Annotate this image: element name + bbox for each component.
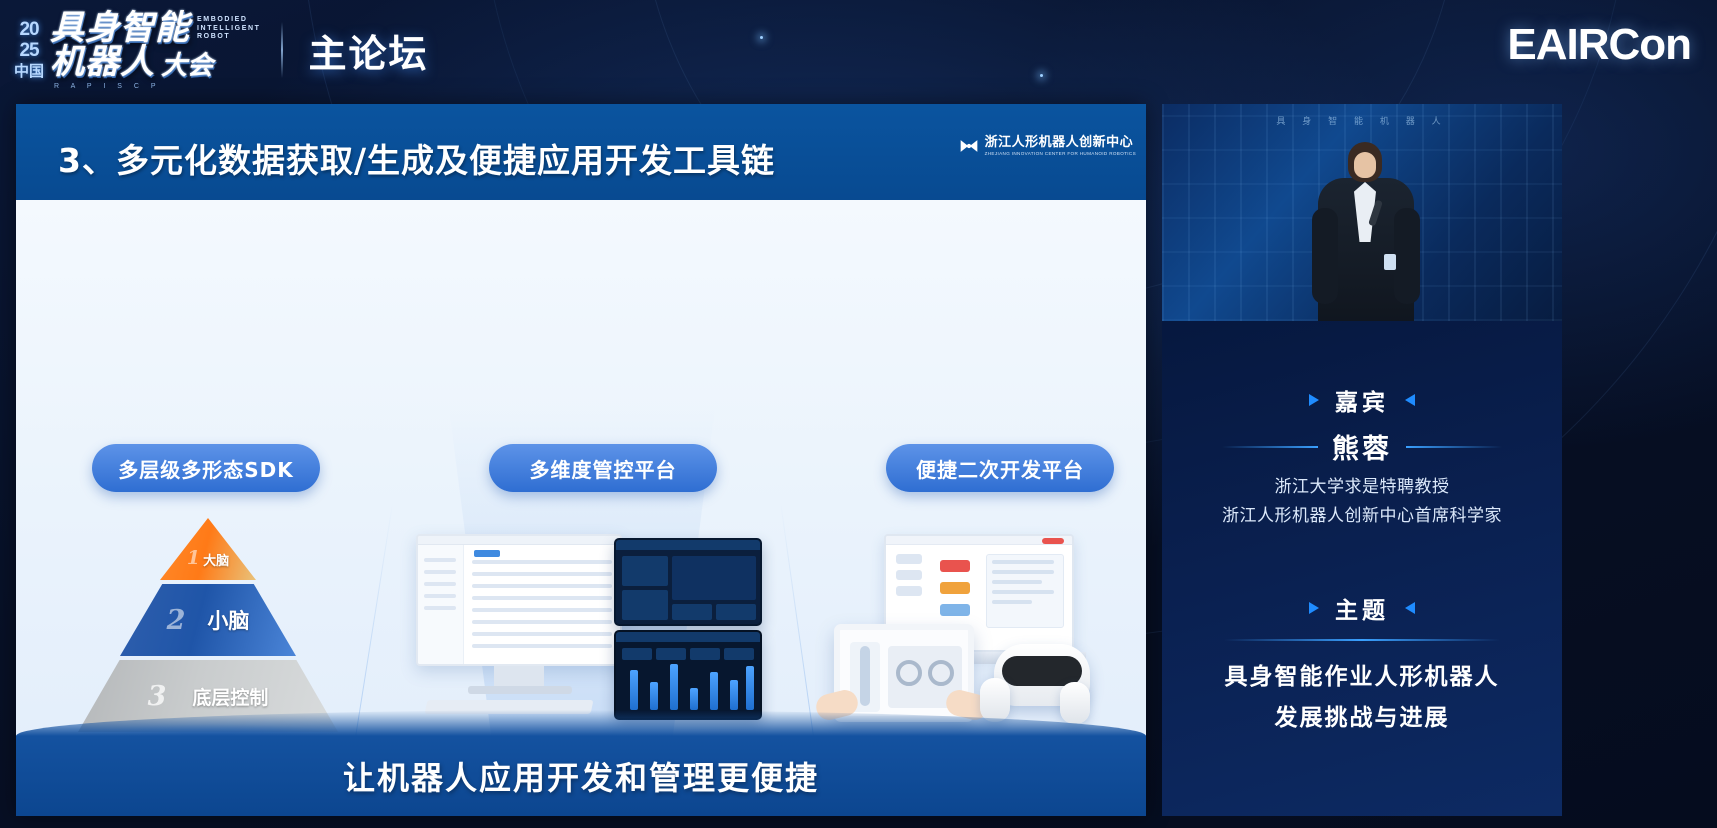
pyramid-diagram: 1 大脑 2 小脑 3 底层控制	[74, 518, 342, 740]
guest-affiliation-line-2: 浙江人形机器人创新中心首席科学家	[1162, 502, 1562, 531]
slide-title: 3、多元化数据获取/生成及便捷应用开发工具链	[58, 134, 775, 182]
conference-pinyin: R A P I S C P	[50, 83, 261, 90]
topic-title: 具身智能作业人形机器人 发展挑战与进展	[1162, 657, 1562, 739]
mock-bar	[710, 672, 718, 710]
mock-nav-item	[424, 606, 456, 610]
mock-row	[472, 620, 612, 624]
page-header: 20 25 中国 具身智能 EMBODIED INTELLIGENT ROBOT…	[0, 0, 1717, 100]
mock-bar	[670, 664, 678, 710]
mock-node-highlight	[940, 604, 970, 616]
conference-name-en: EMBODIED INTELLIGENT ROBOT	[197, 16, 261, 42]
name-rule-right	[1406, 446, 1502, 448]
conference-region: 中国	[14, 61, 44, 82]
mock-header-bar	[616, 632, 760, 642]
mock-row	[472, 560, 612, 564]
pyramid-layer-number: 1	[187, 547, 200, 569]
header-divider	[281, 22, 283, 78]
mock-bar	[746, 666, 754, 710]
butterfly-mark-icon	[959, 136, 979, 156]
mock-panel	[724, 648, 754, 660]
mock-node	[896, 586, 922, 596]
mock-nav-item	[424, 594, 456, 598]
mock-panel	[622, 590, 668, 620]
triangle-right-icon	[1405, 602, 1415, 614]
forum-title: 主论坛	[309, 23, 429, 78]
pyramid-layer-label: 小脑	[207, 605, 249, 635]
mock-header-bar	[616, 540, 760, 550]
mock-wheel	[928, 660, 954, 686]
name-rule-left	[1222, 446, 1318, 448]
mock-video-panel	[672, 556, 756, 600]
mock-bar	[690, 688, 698, 710]
mock-row	[472, 596, 612, 600]
guest-name: 熊蓉	[1332, 427, 1392, 466]
slide-title-bar: 3、多元化数据获取/生成及便捷应用开发工具链 浙江人形机器人创新中心 ZHEJI…	[16, 104, 1146, 200]
mock-panel	[716, 604, 756, 620]
triangle-left-icon	[1309, 394, 1319, 406]
organization-logo: 浙江人形机器人创新中心 ZHEJIANG INNOVATION CENTER F…	[959, 136, 1136, 157]
topic-section-label: 主题	[1335, 591, 1389, 625]
mock-panel	[656, 648, 686, 660]
speaker-arm-left	[1312, 208, 1338, 304]
mock-nav-item	[424, 558, 456, 562]
mock-node-highlight	[940, 582, 970, 594]
mock-human-body	[860, 646, 870, 706]
speaker-info-panel: 嘉宾 熊蓉 浙江大学求是特聘教授 浙江人形机器人创新中心首席科学家 主题 具身智…	[1162, 321, 1562, 816]
dark-dashboard-mock-bottom	[614, 630, 762, 720]
topic-line-2: 发展挑战与进展	[1162, 698, 1562, 739]
mock-bar	[650, 682, 658, 710]
sidebar: 具 身 智 能 机 器 人 嘉宾 熊蓉 浙江大学求是特聘教授	[1162, 104, 1562, 816]
vr-controller-left	[980, 678, 1010, 722]
conference-year-top: 20	[19, 19, 38, 40]
mock-tab	[474, 550, 500, 557]
guest-affiliation-line-1: 浙江大学求是特聘教授	[1162, 473, 1562, 502]
mock-bar	[730, 680, 738, 710]
video-overlay-text: 具 身 智 能 机 器 人	[1162, 114, 1562, 127]
speaker-face	[1354, 152, 1376, 178]
guest-section-label: 嘉宾	[1335, 383, 1389, 417]
conference-year-bottom: 25	[19, 40, 38, 61]
monitor-stand-neck	[494, 666, 544, 686]
vr-controller-right	[1060, 682, 1090, 724]
organization-name-cn: 浙江人形机器人创新中心	[985, 136, 1136, 149]
eaircon-brand-logo: EAIRCon	[1507, 20, 1691, 70]
mock-nav-item	[424, 582, 456, 586]
organization-name-en: ZHEJIANG INNOVATION CENTER FOR HUMANOID …	[985, 152, 1136, 157]
conference-en-line2: INTELLIGENT	[197, 25, 261, 34]
mock-wheel	[896, 660, 922, 686]
speaker-arm-right	[1394, 208, 1420, 304]
mock-line	[992, 600, 1032, 604]
mock-node	[896, 570, 922, 580]
mock-row	[472, 632, 612, 636]
slide-banner-text: 让机器人应用开发和管理更便捷	[343, 753, 819, 799]
mock-toolbar	[418, 536, 620, 545]
dark-dashboard-mock-top	[614, 538, 762, 626]
mock-line	[992, 590, 1054, 594]
triangle-left-icon	[1309, 602, 1319, 614]
conference-en-line1: EMBODIED	[197, 16, 261, 25]
column-pill-development-platform[interactable]: 便捷二次开发平台	[886, 444, 1114, 492]
mock-sidebar	[418, 545, 464, 664]
conference-year-block: 20 25 中国	[14, 19, 44, 82]
mock-panel	[622, 556, 668, 586]
pyramid-layer-label: 大脑	[203, 550, 229, 569]
guest-affiliation: 浙江大学求是特聘教授 浙江人形机器人创新中心首席科学家	[1162, 473, 1562, 531]
mock-panel	[672, 604, 712, 620]
conference-en-line3: ROBOT	[197, 33, 261, 42]
mock-row	[472, 584, 612, 588]
guest-section-header: 嘉宾	[1162, 383, 1562, 417]
column-pill-management-platform[interactable]: 多维度管控平台	[489, 444, 717, 492]
conference-name-line2: 机器人	[50, 45, 155, 79]
topic-line-1: 具身智能作业人形机器人	[1162, 657, 1562, 698]
conference-name-line1: 具身智能	[50, 11, 190, 45]
mock-panel	[690, 648, 720, 660]
mock-row	[472, 644, 612, 648]
mock-row	[472, 608, 612, 612]
column-pill-sdk[interactable]: 多层级多形态SDK	[92, 444, 320, 492]
slide-content: 多层级多形态SDK 多维度管控平台 便捷二次开发平台 1 大脑 2 小脑 3 底…	[16, 200, 1146, 760]
monitor-screenshot-mock	[416, 534, 622, 666]
triangle-right-icon	[1405, 394, 1415, 406]
organization-logo-text: 浙江人形机器人创新中心 ZHEJIANG INNOVATION CENTER F…	[985, 136, 1136, 157]
conference-logo: 20 25 中国 具身智能 EMBODIED INTELLIGENT ROBOT…	[14, 6, 429, 94]
pyramid-layer-brain: 1 大脑	[160, 518, 256, 580]
topic-section-header: 主题	[1162, 591, 1562, 625]
topic-rule	[1224, 639, 1500, 641]
slide-bottom-banner: 让机器人应用开发和管理更便捷	[16, 736, 1146, 816]
mock-line	[992, 560, 1054, 564]
mock-row	[472, 572, 612, 576]
presentation-slide: 3、多元化数据获取/生成及便捷应用开发工具链 浙江人形机器人创新中心 ZHEJI…	[16, 104, 1146, 816]
monitor-stand-base	[468, 686, 572, 694]
mock-panel	[622, 648, 652, 660]
pyramid-layer-number: 3	[148, 681, 167, 712]
mock-nav-item	[424, 570, 456, 574]
mock-bar	[630, 670, 638, 710]
speaker-badge	[1384, 254, 1396, 270]
conference-name: 具身智能 EMBODIED INTELLIGENT ROBOT 机器人 大会 R…	[50, 11, 261, 90]
mock-line	[992, 580, 1042, 584]
screen: 20 25 中国 具身智能 EMBODIED INTELLIGENT ROBOT…	[0, 0, 1717, 828]
pyramid-layer-number: 2	[167, 605, 186, 636]
mock-node	[896, 554, 922, 564]
mock-node-highlight	[940, 560, 970, 572]
conference-name-suffix: 大会	[161, 53, 213, 79]
pyramid-layer-cerebellum: 2 小脑	[120, 584, 296, 656]
mock-line	[992, 570, 1054, 574]
speaker-video-feed[interactable]: 具 身 智 能 机 器 人	[1162, 104, 1562, 321]
pyramid-layer-label: 底层控制	[192, 683, 268, 710]
guest-name-row: 熊蓉	[1162, 427, 1562, 466]
mock-badge	[1042, 538, 1064, 544]
